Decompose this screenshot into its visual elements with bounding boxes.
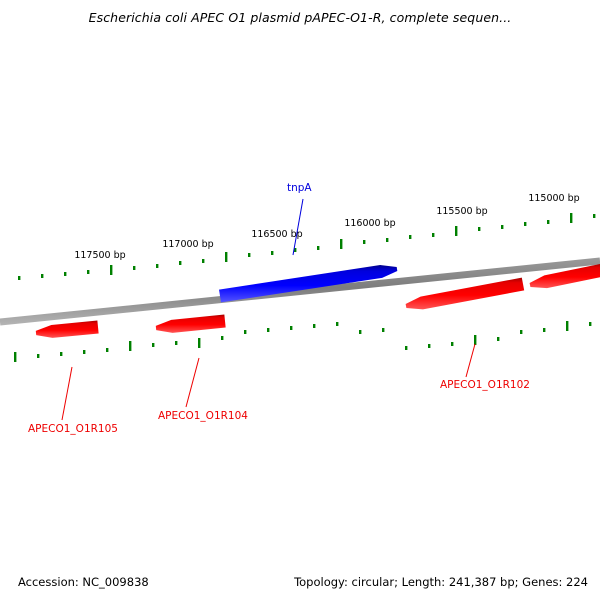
status-bar: Accession: NC_009838 Topology: circular;…	[0, 564, 600, 600]
leader-line-APECO1_O1R102	[466, 344, 475, 377]
ruler-tick-top-10	[248, 253, 250, 257]
ruler-tick-bottom-23	[543, 328, 545, 332]
ruler-tick-bottom-16	[382, 328, 384, 332]
ruler-tick-bottom-7	[175, 341, 177, 345]
ruler-label-3: 116000 bp	[344, 218, 395, 229]
ruler-labels: 117500 bp117000 bp116500 bp116000 bp1155…	[74, 193, 579, 261]
ruler-tick-top-4	[110, 265, 112, 275]
ruler-tick-top-21	[501, 225, 503, 229]
ruler-tick-top-23	[547, 220, 549, 224]
ruler-tick-bottom-18	[428, 344, 430, 348]
ruler-label-0: 117500 bp	[74, 250, 125, 261]
ruler-tick-bottom-11	[267, 328, 269, 332]
ruler-tick-bottom-10	[244, 330, 246, 334]
ruler-tick-top-13	[317, 246, 319, 250]
ruler-tick-top-7	[179, 261, 181, 265]
ruler-tick-bottom-9	[221, 336, 223, 340]
sequence-summary-status: Topology: circular; Length: 241,387 bp; …	[294, 575, 588, 589]
ruler-tick-top-6	[156, 264, 158, 268]
ruler-tick-top-5	[133, 266, 135, 270]
ruler-label-5: 115000 bp	[528, 193, 579, 204]
gene-features[interactable]	[36, 264, 600, 338]
leader-line-APECO1_O1R104	[186, 358, 199, 407]
ruler-tick-bottom-21	[497, 337, 499, 341]
ruler-tick-top-20	[478, 227, 480, 231]
ruler-tick-bottom-22	[520, 330, 522, 334]
ruler-tick-bottom-0	[14, 352, 16, 362]
ruler-tick-top-11	[271, 251, 273, 255]
leader-line-tnpA	[293, 199, 303, 255]
ruler-tick-bottom-15	[359, 330, 361, 334]
ruler-tick-top-19	[455, 226, 457, 236]
ruler-tick-bottom-4	[106, 348, 108, 352]
ruler-tick-top-3	[87, 270, 89, 274]
ruler-tick-top-17	[409, 235, 411, 239]
gene-arrow-APECO1_O1R104[interactable]	[156, 315, 226, 333]
ruler-tick-bottom-5	[129, 341, 131, 351]
gene-label-APECO1_O1R102[interactable]: APECO1_O1R102	[440, 379, 530, 391]
ruler-label-1: 117000 bp	[162, 239, 213, 250]
ruler-tick-top-14	[340, 239, 342, 249]
ruler-tick-bottom-1	[37, 354, 39, 358]
ruler-label-4: 115500 bp	[436, 206, 487, 217]
gene-label-APECO1_O1R105[interactable]: APECO1_O1R105	[28, 423, 118, 435]
ruler-tick-bottom-17	[405, 346, 407, 350]
ruler-tick-top-25	[593, 214, 595, 218]
ruler-tick-top-22	[524, 222, 526, 226]
ruler-tick-bottom-25	[589, 322, 591, 326]
ruler-tick-bottom-8	[198, 338, 200, 348]
ruler-tick-top-18	[432, 233, 434, 237]
ruler-tick-top-15	[363, 240, 365, 244]
ruler-tick-top-0	[18, 276, 20, 280]
ruler-tick-top-8	[202, 259, 204, 263]
ruler-tick-bottom-6	[152, 343, 154, 347]
genome-map-viewer[interactable]: Escherichia coli APEC O1 plasmid pAPEC-O…	[0, 0, 600, 600]
ruler-tick-top-24	[570, 213, 572, 223]
ruler-tick-bottom-19	[451, 342, 453, 346]
ruler-tick-bottom-14	[336, 322, 338, 326]
ruler-tick-bottom-13	[313, 324, 315, 328]
genome-map-svg[interactable]: 117500 bp117000 bp116500 bp116000 bp1155…	[0, 0, 600, 600]
ruler-tick-top-1	[41, 274, 43, 278]
ruler-ticks-bottom	[14, 321, 591, 362]
ruler-tick-top-9	[225, 252, 227, 262]
ruler-tick-bottom-2	[60, 352, 62, 356]
gene-label-APECO1_O1R104[interactable]: APECO1_O1R104	[158, 410, 248, 422]
accession-status: Accession: NC_009838	[18, 575, 149, 589]
ruler-tick-top-16	[386, 238, 388, 242]
gene-label-tnpA[interactable]: tnpA	[287, 182, 312, 194]
gene-arrow-APECO1_O1R105[interactable]	[36, 321, 99, 338]
ruler-label-2: 116500 bp	[251, 229, 302, 240]
ruler-tick-bottom-24	[566, 321, 568, 331]
ruler-tick-bottom-12	[290, 326, 292, 330]
leader-line-APECO1_O1R105	[62, 367, 72, 420]
ruler-tick-bottom-20	[474, 335, 476, 345]
ruler-tick-bottom-3	[83, 350, 85, 354]
ruler-tick-top-2	[64, 272, 66, 276]
